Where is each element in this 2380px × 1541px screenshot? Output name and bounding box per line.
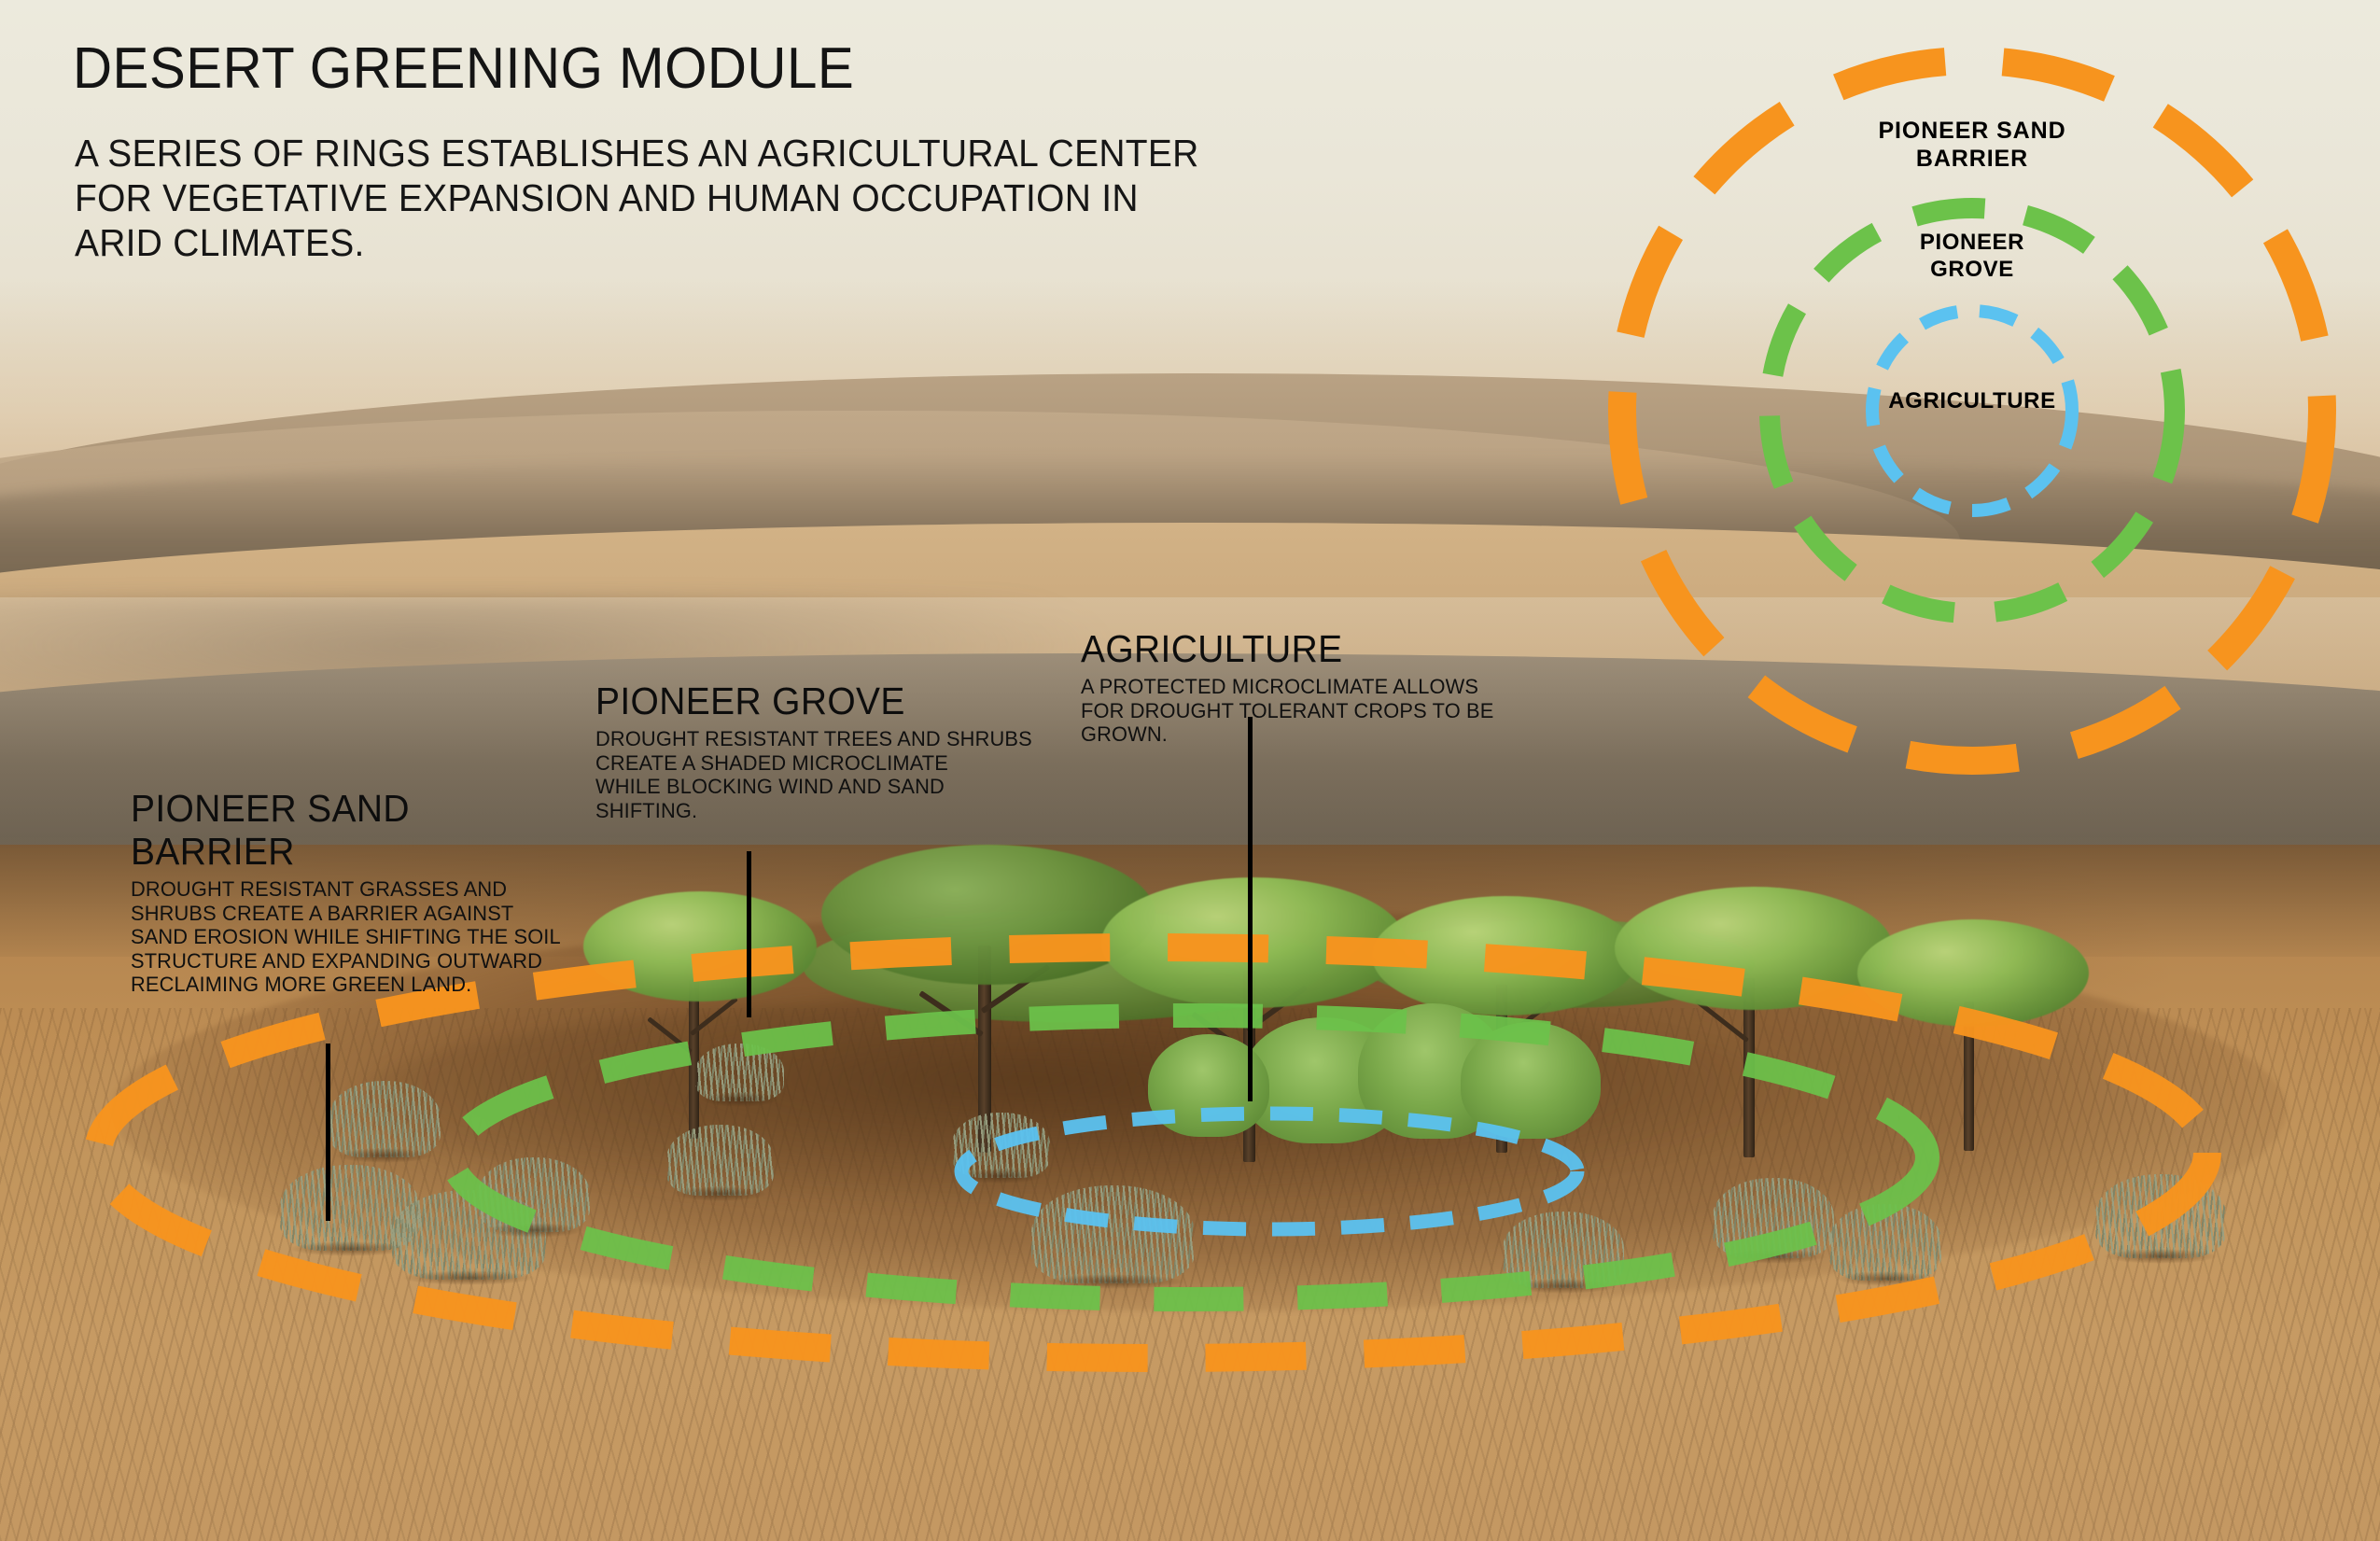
leader-line-agriculture bbox=[1248, 717, 1253, 1101]
callout-pioneer-sand-barrier: PIONEER SAND BARRIER DROUGHT RESISTANT G… bbox=[131, 787, 616, 997]
callout-pioneer-grove: PIONEER GROVE DROUGHT RESISTANT TREES AN… bbox=[595, 679, 1062, 822]
page-subtitle: A SERIES OF RINGS ESTABLISHES AN AGRICUL… bbox=[75, 131, 1227, 265]
callout-heading: PIONEER GROVE bbox=[595, 679, 1039, 722]
callout-heading: PIONEER SAND BARRIER bbox=[131, 787, 592, 873]
callout-heading: AGRICULTURE bbox=[1081, 627, 1524, 670]
ring-sand-barrier-ground bbox=[98, 947, 2207, 1358]
legend-label-sand-barrier: PIONEER SAND BARRIER bbox=[1832, 117, 2112, 173]
callout-body: DROUGHT RESISTANT TREES AND SHRUBS CREAT… bbox=[595, 727, 1048, 822]
ring-pioneer-grove-ground bbox=[453, 1016, 1927, 1299]
legend-label-agriculture: AGRICULTURE bbox=[1860, 387, 2084, 414]
desert-greening-module-poster: PIONEER SAND BARRIER PIONEER GROVE AGRIC… bbox=[0, 0, 2380, 1541]
callout-body: A PROTECTED MICROCLIMATE ALLOWS FOR DROU… bbox=[1081, 675, 1533, 747]
leader-line-pioneer-grove bbox=[747, 851, 751, 1017]
callout-body: DROUGHT RESISTANT GRASSES AND SHRUBS CRE… bbox=[131, 877, 601, 997]
leader-line-sand-barrier bbox=[326, 1044, 330, 1221]
page-title: DESERT GREENING MODULE bbox=[73, 35, 854, 102]
legend-label-pioneer-grove: PIONEER GROVE bbox=[1860, 229, 2084, 283]
ring-agriculture-ground bbox=[961, 1114, 1577, 1229]
callout-agriculture: AGRICULTURE A PROTECTED MICROCLIMATE ALL… bbox=[1081, 627, 1547, 747]
